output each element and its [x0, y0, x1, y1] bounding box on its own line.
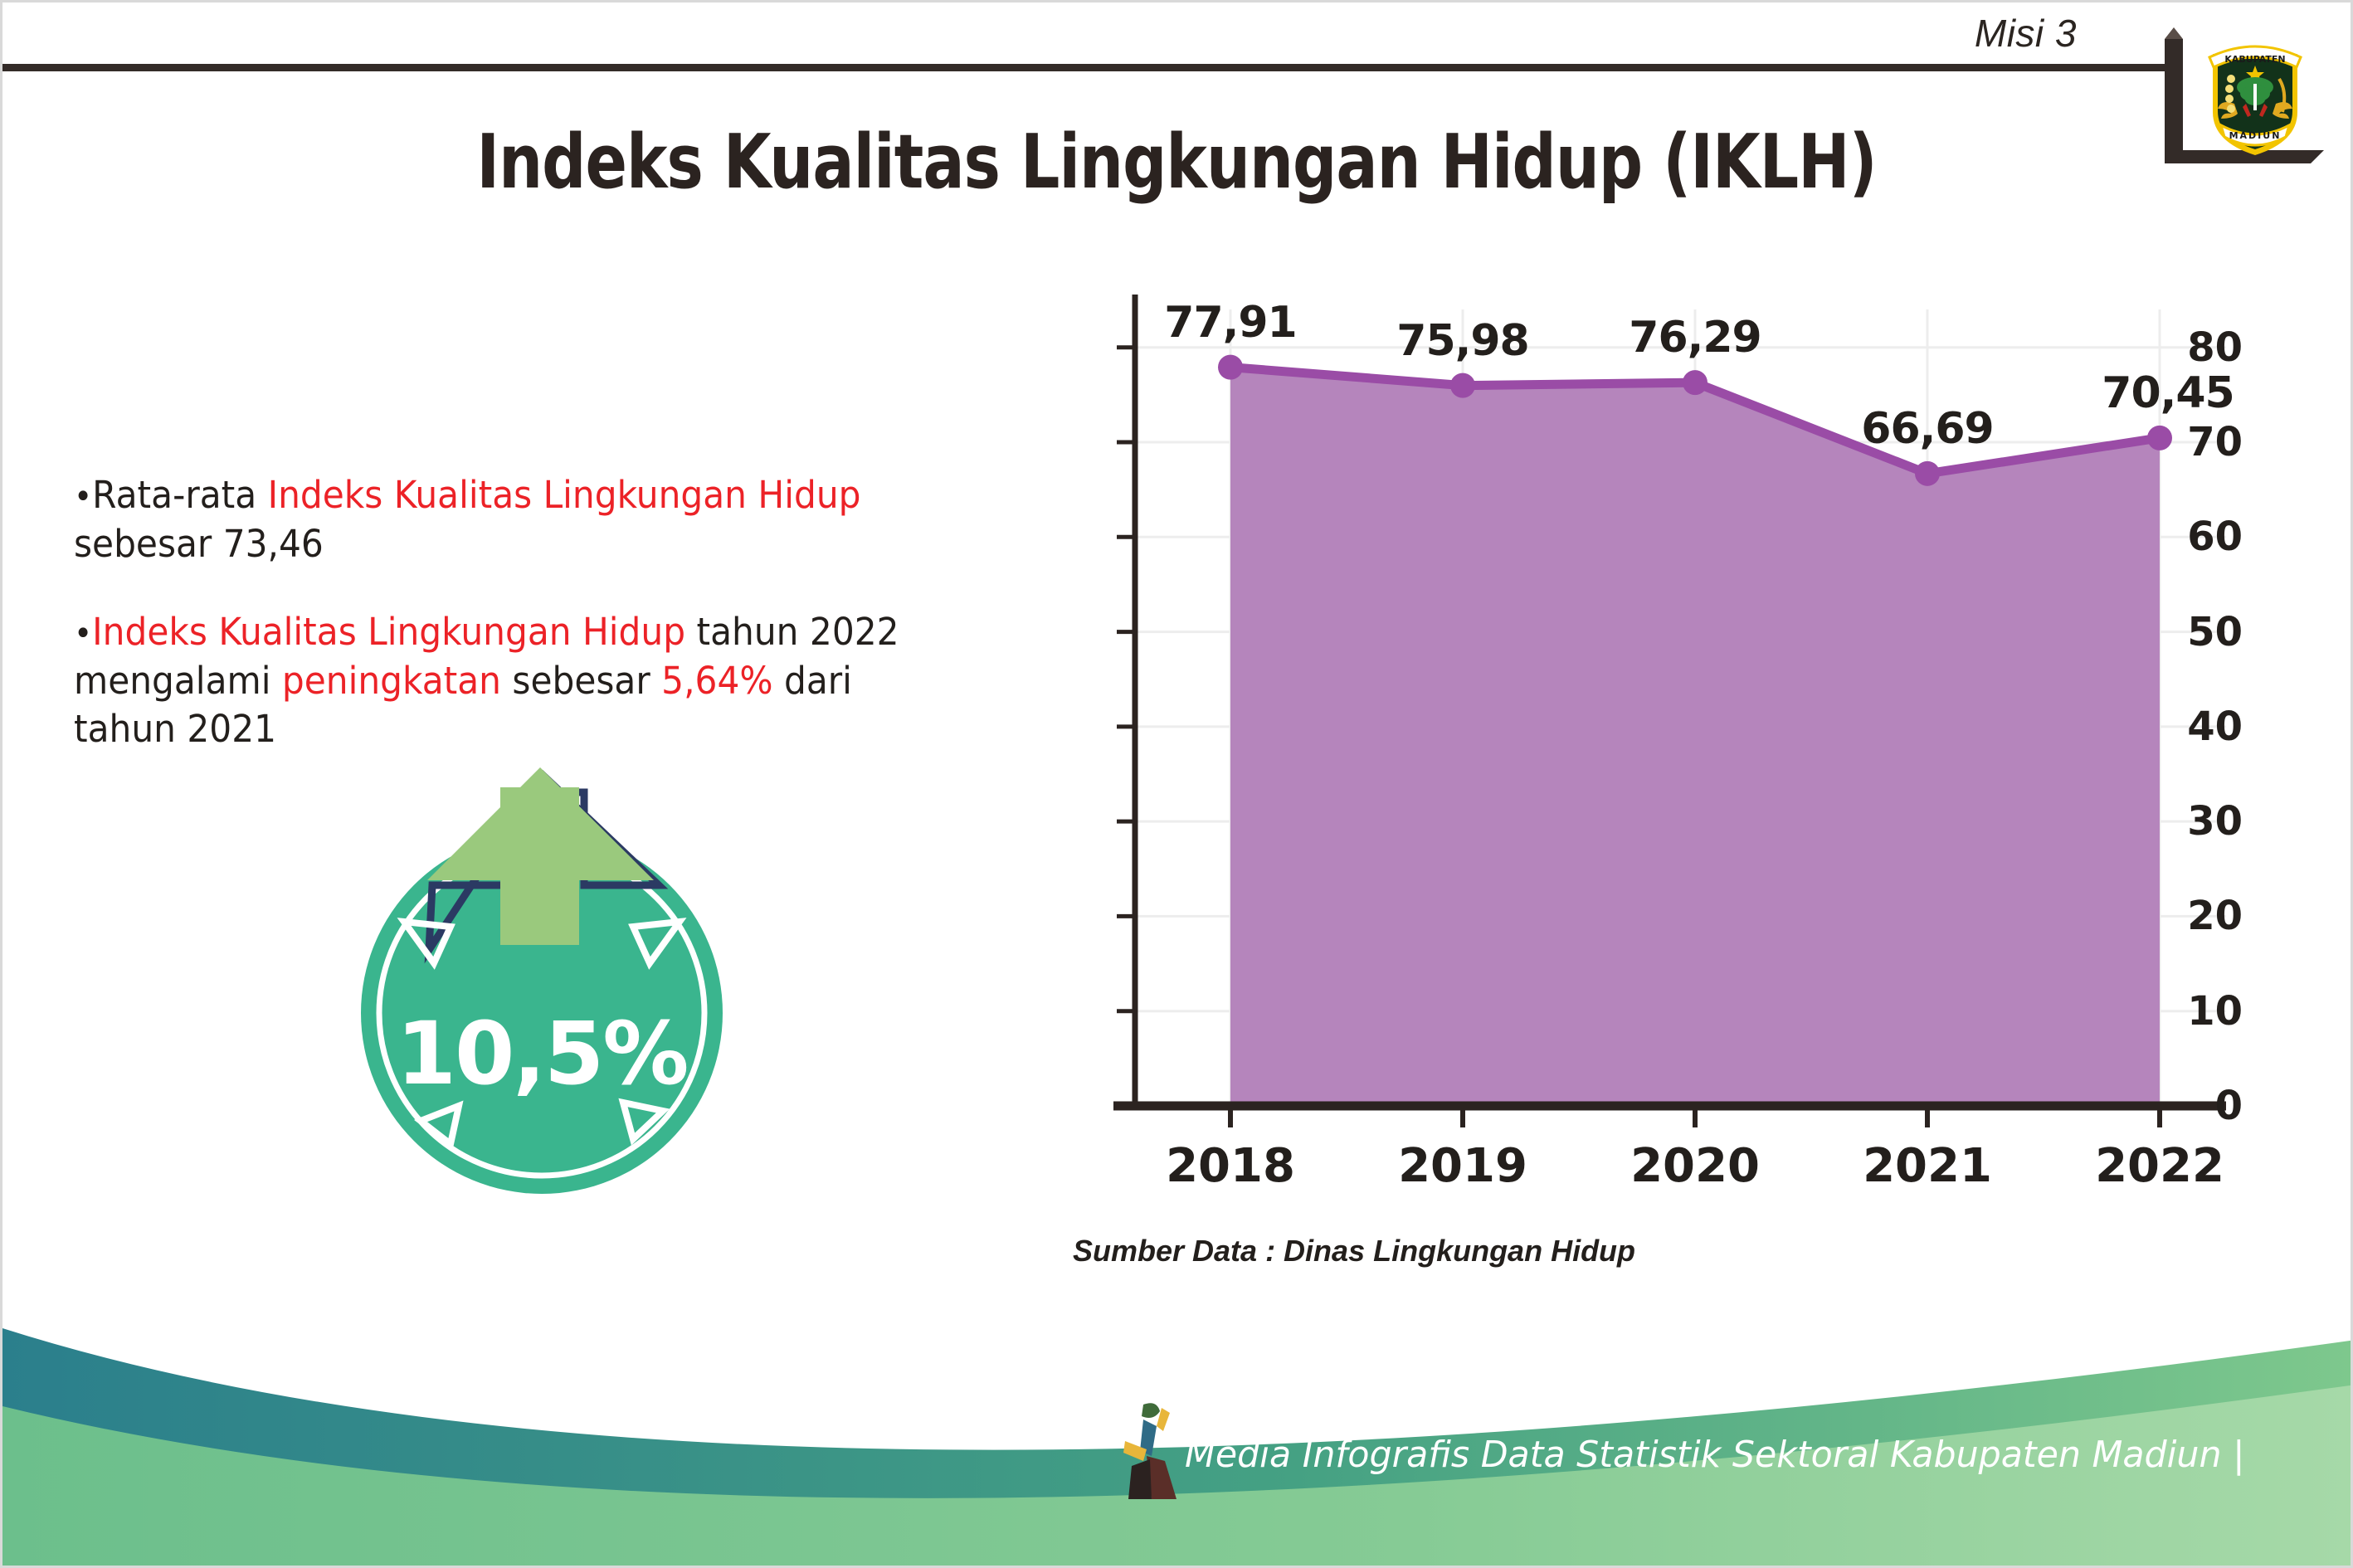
increase-badge: 10,5%	[334, 764, 749, 1195]
bullet-2-seg-2: peningkatan	[282, 659, 501, 703]
y-axis-tick-label: 70	[2117, 419, 2243, 465]
bullet-1-seg-2: sebesar 73,46	[74, 522, 324, 566]
misi-label: Misi 3	[1975, 11, 2077, 56]
header-rule	[2, 64, 2166, 71]
data-label: 75,98	[1396, 316, 1528, 366]
page-title: Indeks Kualitas Lingkungan Hidup (IKLH)	[85, 119, 2268, 205]
data-label: 70,45	[2102, 368, 2234, 418]
bullet-list: •Rata-rata Indeks Kualitas Lingkungan Hi…	[74, 471, 953, 794]
data-label: 66,69	[1861, 404, 1993, 454]
footer: Media Infografis Data Statistik Sektoral…	[2, 1292, 2353, 1566]
y-axis-tick-label: 80	[2117, 324, 2243, 371]
y-axis-tick-label: 0	[2117, 1083, 2243, 1129]
bullet-2-seg-0: Indeks Kualitas Lingkungan Hidup	[92, 610, 685, 654]
y-axis-tick-label: 50	[2117, 609, 2243, 655]
infographic-slide: Misi 3 KABUPATEN MADIUN Indeks Kualit	[0, 0, 2353, 1568]
footer-text: Media Infografis Data Statistik Sektoral…	[1185, 1434, 2244, 1476]
bullet-1-seg-0: Rata-rata	[92, 473, 267, 517]
bullet-item-1: •Rata-rata Indeks Kualitas Lingkungan Hi…	[74, 471, 900, 568]
bullet-dot: •	[74, 478, 92, 516]
y-axis-tick-label: 10	[2117, 988, 2243, 1035]
data-label: 76,29	[1629, 313, 1761, 363]
data-label: 77,91	[1164, 298, 1296, 348]
y-axis-tick-label: 60	[2117, 514, 2243, 560]
badge-graphic	[334, 764, 749, 1195]
y-axis-tick-label: 30	[2117, 798, 2243, 845]
x-axis-tick-label: 2020	[1630, 1139, 1760, 1193]
bullet-dot: •	[74, 615, 92, 653]
y-axis-tick-label: 20	[2117, 893, 2243, 939]
bullet-2-seg-4: 5,64%	[661, 659, 772, 703]
source-note: Sumber Data : Dinas Lingkungan Hidup	[1073, 1234, 1635, 1269]
y-axis-tick-label: 40	[2117, 704, 2243, 750]
bullet-item-2: •Indeks Kualitas Lingkungan Hidup tahun …	[74, 608, 900, 754]
x-axis-tick-label: 2019	[1398, 1139, 1527, 1193]
x-axis-tick-label: 2018	[1166, 1139, 1295, 1193]
bullet-1-seg-1: Indeks Kualitas Lingkungan Hidup	[268, 473, 861, 517]
iklh-area-chart: 010203040506070802018201920202021202277,…	[982, 276, 2243, 1214]
svg-text:KABUPATEN: KABUPATEN	[2224, 54, 2285, 65]
bullet-2-seg-3: sebesar	[501, 659, 661, 703]
x-axis-tick-label: 2021	[1863, 1139, 1992, 1193]
chart-labels-layer: 010203040506070802018201920202021202277,…	[982, 276, 2243, 1214]
badge-percent-value: 10,5%	[334, 1003, 749, 1104]
x-axis-tick-label: 2022	[2095, 1139, 2224, 1193]
